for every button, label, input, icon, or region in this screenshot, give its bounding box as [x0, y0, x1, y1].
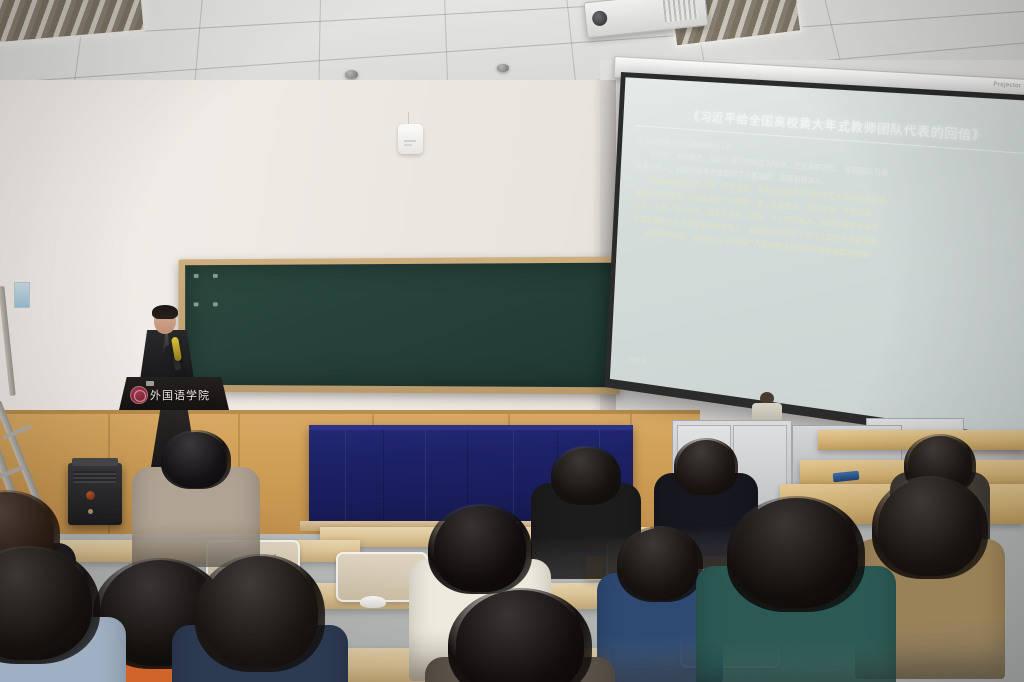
tissue-on-desk: [360, 596, 386, 608]
projector-lens-icon: [591, 10, 607, 26]
university-seal-icon: [130, 386, 148, 404]
person-hair: [195, 554, 325, 672]
podium-plate: [146, 381, 154, 386]
amplifier-knob[interactable]: [86, 491, 95, 500]
draped-table-top: [309, 425, 633, 430]
ceiling-light-fixture: [0, 0, 146, 45]
projector-vent: [663, 0, 699, 22]
speaker-grill-icon: [404, 140, 416, 142]
seal-inner-ring: [134, 390, 146, 402]
podium-institution-label: 外国语学院: [150, 387, 210, 403]
person-hair: [551, 446, 620, 505]
ceiling-sensor-icon: [345, 70, 358, 79]
screen-brand-label: Projector Screen: [993, 81, 1024, 91]
speaker-grill-icon: [404, 144, 412, 146]
wall-speaker: [398, 124, 423, 154]
amplifier-top-panel: [72, 458, 118, 466]
glasses-icon: [156, 318, 174, 323]
wall-notice-sign: [14, 282, 30, 308]
amplifier-vent: [74, 471, 116, 483]
lecture-hall-photo: Projector Screen 《习近平给全国高校黄大年式教师团队代表的回信》…: [0, 0, 1024, 682]
person-hair: [674, 438, 739, 495]
audio-amplifier: [68, 463, 122, 525]
presentation-slide: 《习近平给全国高校黄大年式教师团队代表的回信》 全国高校黄大年式教师团队代表：你…: [610, 77, 1024, 441]
person-hair: [0, 546, 100, 664]
person-hair: [428, 504, 531, 594]
presenter-hair: [152, 305, 178, 319]
person-hair: [161, 430, 230, 489]
blackboard: [178, 257, 620, 395]
projection-screen: 《习近平给全国高校黄大年式教师团队代表的回信》 全国高校黄大年式教师团队代表：你…: [605, 72, 1024, 452]
person-hair: [872, 476, 988, 579]
person-hair: [617, 526, 702, 602]
blackboard-surface: [185, 263, 613, 388]
slide-signature: 习近平: [628, 354, 647, 366]
amplifier-led-icon: [88, 509, 93, 514]
ceiling-sensor-icon: [497, 64, 509, 72]
slide-body-text: 全国高校黄大年式教师团队代表：你们好！来信收悉。你们以黄大年同志为榜样，立足本职…: [633, 134, 1024, 280]
person-hair: [727, 496, 866, 612]
